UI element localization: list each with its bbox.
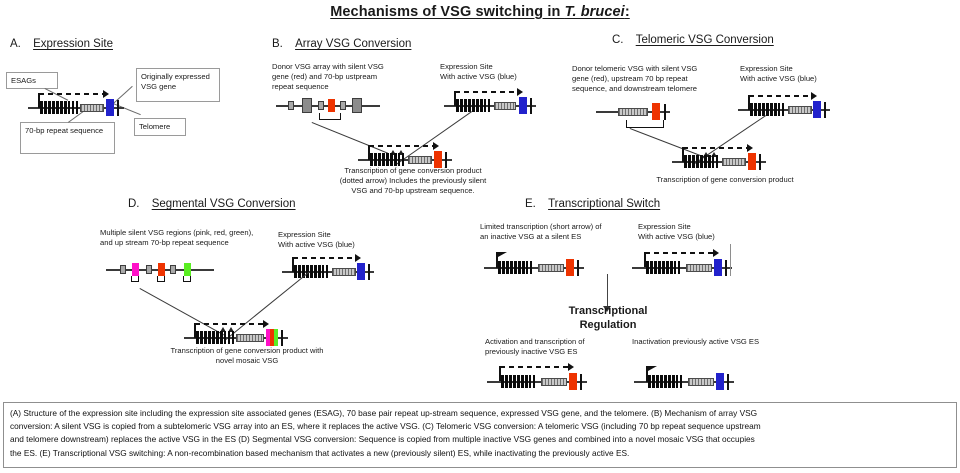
- spacer-gene-3: [170, 265, 176, 274]
- panel-a-name: Expression Site: [33, 38, 113, 50]
- panel-e-silent-label: Limited transcription (short arrow) of a…: [480, 222, 630, 242]
- legend-line-3: and telomere downstream) replaces the ac…: [10, 433, 950, 446]
- transcription-arrow: [682, 147, 754, 163]
- panel-e-es-label: Expression Site With active VSG (blue): [638, 222, 758, 242]
- telomere-tick: [759, 154, 761, 170]
- figure-title-species: T. brucei: [565, 4, 625, 20]
- silent-vsg-grey-1: [302, 98, 312, 113]
- figure-legend: (A) Structure of the expression site inc…: [3, 402, 957, 468]
- panel-d-name: Segmental VSG Conversion: [152, 198, 296, 210]
- construct-expression-site-d: [282, 252, 382, 282]
- esag-block: [538, 264, 564, 272]
- transcription-arrow: [644, 252, 720, 268]
- vsg-gene-active: [714, 259, 722, 276]
- spacer-gene-1: [288, 101, 294, 110]
- panel-e-letter: E.: [525, 198, 536, 210]
- segment-bracket-green: [183, 276, 191, 282]
- regulation-arrow-line: [607, 274, 608, 308]
- limited-transcription-arrow: [646, 366, 658, 382]
- transcription-arrow: [368, 145, 440, 161]
- silent-vsg-green: [184, 263, 191, 276]
- transcription-arrow: [292, 257, 362, 273]
- telomere-tick: [664, 104, 666, 120]
- vsg-gene-active: [813, 101, 821, 118]
- telomere-tick: [824, 102, 826, 118]
- panel-b-heading: B. Array VSG Conversion: [272, 38, 411, 50]
- legend-line-2: conversion: A silent VSG is copied from …: [10, 420, 950, 433]
- construct-active-es-e: [632, 248, 742, 278]
- telomere-tick: [281, 330, 283, 346]
- vsg-gene-active: [519, 97, 527, 114]
- construct-activated-es-e: [487, 362, 597, 392]
- telomere-tick: [368, 264, 370, 280]
- telomere-tick: [530, 98, 532, 114]
- segment-bracket-pink: [131, 276, 139, 282]
- construct-silent-es-e: [484, 248, 594, 278]
- mosaic-segment-green: [274, 329, 278, 346]
- construct-donor-array-b: [276, 86, 386, 116]
- figure-title-post: :: [625, 4, 630, 20]
- figure-title: Mechanisms of VSG switching in T. brucei…: [0, 4, 960, 20]
- esag-block: [688, 378, 714, 386]
- panel-b-letter: B.: [272, 38, 283, 50]
- spacer-gene-2: [318, 101, 324, 110]
- panel-d-donor-label: Multiple silent VSG regions (pink, red, …: [100, 228, 265, 248]
- transcription-arrow: [38, 93, 110, 109]
- panel-c-product-label: Transcription of gene conversion product: [650, 175, 800, 185]
- panel-d-heading: D. Segmental VSG Conversion: [128, 198, 296, 210]
- transcription-arrow: [499, 366, 575, 382]
- construct-conversion-product-d: [184, 318, 294, 348]
- panel-c-donor-label: Donor telomeric VSG with silent VSG gene…: [572, 64, 722, 95]
- vsg-gene-active: [357, 263, 365, 280]
- silent-vsg-pink: [132, 263, 139, 276]
- panel-c-name: Telomeric VSG Conversion: [636, 34, 774, 46]
- panel-e-name: Transcriptional Switch: [548, 198, 660, 210]
- transcription-arrow: [194, 323, 270, 339]
- esag-block: [618, 108, 648, 116]
- vsg-gene-converted-red: [748, 153, 756, 170]
- panel-b-name: Array VSG Conversion: [295, 38, 411, 50]
- spacer-gene-3: [340, 101, 346, 110]
- construct-donor-mosaic-d: [106, 250, 221, 280]
- construct-donor-telomeric-c: [596, 92, 686, 122]
- vsg-gene-active: [106, 99, 114, 116]
- silent-vsg-grey-2: [352, 98, 362, 113]
- limited-transcription-arrow: [496, 252, 508, 268]
- vsg-gene-silent-red: [566, 259, 574, 276]
- panel-e-heading: E. Transcriptional Switch: [525, 198, 660, 210]
- callout-telomere: Telomere: [134, 118, 186, 136]
- panel-b-product-label: Transcription of gene conversion product…: [330, 166, 496, 197]
- silent-vsg-red: [652, 103, 660, 120]
- transcription-arrow: [748, 95, 818, 111]
- callout-70bp-repeat: 70-bp repeat sequence: [20, 122, 115, 154]
- panel-e-divider: [730, 244, 731, 276]
- callout-originally-expressed-vsg: Originally expressed VSG gene: [136, 68, 220, 102]
- construct-expression-site-c: [738, 90, 838, 120]
- silent-vsg-red: [158, 263, 165, 276]
- figure-title-pre: Mechanisms of VSG switching in: [330, 4, 564, 20]
- telomere-tick: [117, 100, 119, 116]
- vsg-gene-inactivated-blue: [716, 373, 724, 390]
- panel-e-activation-label: Activation and transcription of previous…: [485, 337, 635, 357]
- silent-vsg-red: [328, 99, 335, 112]
- segment-bracket-red: [157, 276, 165, 282]
- panel-d-product-label: Transcription of gene conversion product…: [162, 346, 332, 366]
- panel-a-letter: A.: [10, 38, 21, 50]
- callout-esags: ESAGs: [6, 72, 58, 89]
- panel-a-heading: A. Expression Site: [10, 38, 113, 50]
- panel-d-letter: D.: [128, 198, 140, 210]
- panel-c-es-label: Expression Site With active VSG (blue): [740, 64, 860, 84]
- panel-e-inactivation-label: Inactivation previously active VSG ES: [632, 337, 812, 347]
- donor-region-bracket: [626, 120, 664, 128]
- telomere-tick: [577, 260, 579, 276]
- panel-c-heading: C. Telomeric VSG Conversion: [612, 34, 774, 46]
- telomere-tick: [580, 374, 582, 390]
- donor-region-bracket: [319, 113, 341, 120]
- construct-inactivated-es-e: [634, 362, 744, 392]
- transcription-arrow: [454, 91, 524, 107]
- panel-d-es-label: Expression Site With active VSG (blue): [278, 230, 398, 250]
- spacer-gene-1: [120, 265, 126, 274]
- construct-conversion-product-c: [672, 142, 772, 172]
- panel-b-es-label: Expression Site With active VSG (blue): [440, 62, 560, 82]
- figure-canvas: Mechanisms of VSG switching in T. brucei…: [0, 0, 960, 473]
- telomere-tick: [727, 374, 729, 390]
- telomere-tick: [725, 260, 727, 276]
- construct-expression-site-a: [28, 88, 128, 118]
- panel-c-letter: C.: [612, 34, 624, 46]
- spacer-gene-2: [146, 265, 152, 274]
- construct-expression-site-b: [444, 86, 544, 116]
- transcriptional-regulation-label: Transcriptional Regulation: [552, 304, 664, 332]
- legend-line-4: the ES. (E) Transcriptional VSG switchin…: [10, 447, 950, 460]
- legend-line-1: (A) Structure of the expression site inc…: [10, 407, 950, 420]
- vsg-gene-activated-red: [569, 373, 577, 390]
